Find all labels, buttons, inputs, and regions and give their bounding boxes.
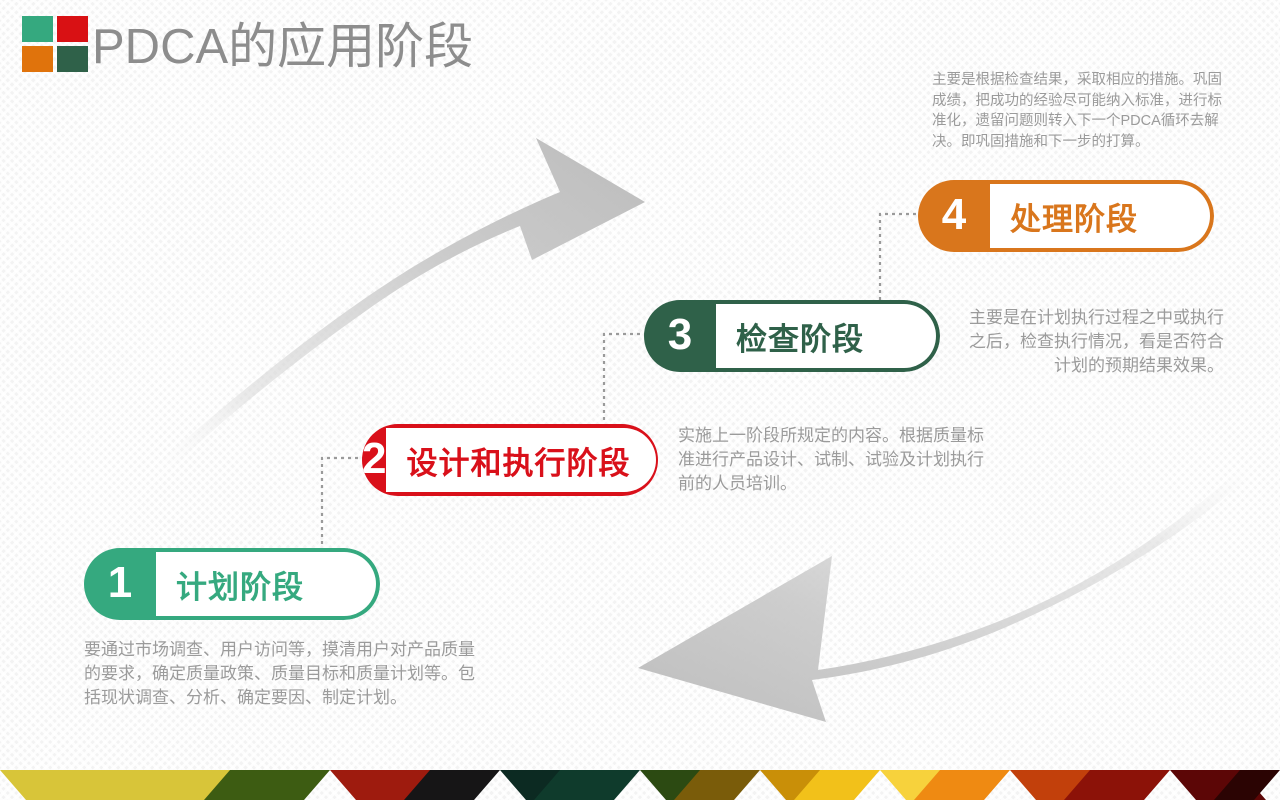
- stage-label-3: 检查阶段: [736, 314, 864, 359]
- stage-description-2: 实施上一阶段所规定的内容。根据质量标准进行产品设计、试制、试验及计划执行前的人员…: [678, 424, 998, 496]
- slide-header: PDCA的应用阶段: [0, 0, 1280, 78]
- logo-square-darkgreen: [57, 46, 88, 72]
- logo-square-red: [57, 16, 88, 42]
- stage-label-wrap-4: 处理阶段: [990, 180, 1214, 252]
- four-square-logo-icon: [22, 16, 88, 72]
- logo-square-teal: [22, 16, 53, 42]
- page-title: PDCA的应用阶段: [92, 7, 473, 78]
- stage-pill-4[interactable]: 4 处理阶段: [918, 180, 1214, 252]
- stage-label-1: 计划阶段: [176, 562, 304, 607]
- stage-description-4: 主要是根据检查结果，采取相应的措施。巩固成绩，把成功的经验尽可能纳入标准，进行标…: [932, 70, 1232, 152]
- stage-number-1: 1: [84, 548, 156, 620]
- stage-description-3: 主要是在计划执行过程之中或执行之后，检查执行情况，看是否符合计划的预期结果效果。: [962, 306, 1224, 378]
- stage-number-4: 4: [918, 180, 990, 252]
- stage-pill-2[interactable]: 2 设计和执行阶段: [362, 424, 658, 496]
- stage-number-3: 3: [644, 300, 716, 372]
- stage-pill-1[interactable]: 1 计划阶段: [84, 548, 380, 620]
- stage-pill-3[interactable]: 3 检查阶段: [644, 300, 940, 372]
- logo-square-orange: [22, 46, 53, 72]
- stage-label-4: 处理阶段: [1010, 194, 1138, 239]
- stage-label-wrap-1: 计划阶段: [156, 548, 380, 620]
- stage-label-2: 设计和执行阶段: [406, 438, 630, 483]
- stage-number-2: 2: [362, 424, 386, 496]
- bottom-decorative-band: [0, 770, 1280, 800]
- stage-label-wrap-3: 检查阶段: [716, 300, 940, 372]
- stage-label-wrap-2: 设计和执行阶段: [386, 424, 658, 496]
- stage-description-1: 要通过市场调查、用户访问等，摸清用户对产品质量的要求，确定质量政策、质量目标和质…: [84, 638, 484, 710]
- slide-canvas: PDCA的应用阶段: [0, 0, 1280, 800]
